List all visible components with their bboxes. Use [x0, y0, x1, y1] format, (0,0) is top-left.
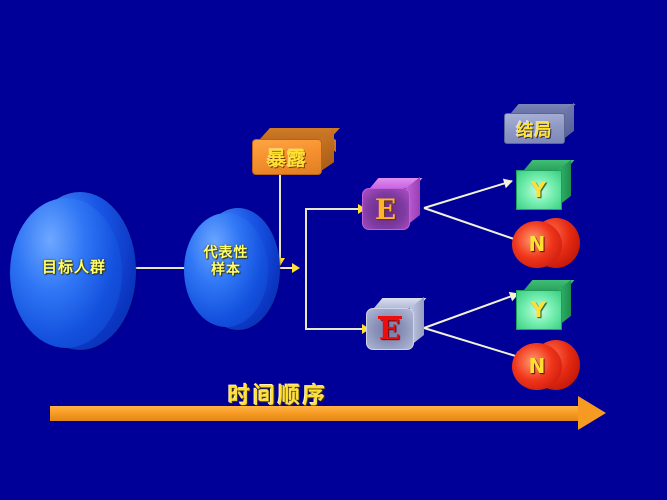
exposed-label: E [375, 193, 397, 226]
connector-unexposed-to-no [424, 327, 524, 359]
outcome-unexposed-yes[interactable]: Y [516, 280, 578, 336]
slide-canvas: 目标人群 代表性 样本 暴露 E E [0, 0, 667, 500]
outcome-yes2-label: Y [531, 298, 547, 322]
exposed-cube-face: E [362, 188, 410, 230]
outcome-yes-label: Y [531, 178, 547, 202]
node-unexposed[interactable]: E [366, 298, 428, 354]
outcome-unexposed-no[interactable]: N [512, 340, 582, 392]
outcome-header-label: 结局 [517, 116, 553, 141]
connector-split-to-exposed [305, 208, 361, 210]
node-exposure[interactable]: 暴露 [252, 128, 336, 174]
connector-exposed-to-yes [424, 180, 513, 209]
unexposed-overbar [378, 316, 402, 319]
outcome-exposed-yes[interactable]: Y [516, 160, 578, 216]
unexposed-label-wrap: E [379, 313, 401, 346]
node-representative-sample[interactable]: 代表性 样本 [184, 208, 280, 332]
connector-unexposed-to-yes [424, 293, 519, 329]
node-outcome-header[interactable]: 结局 [504, 104, 582, 146]
exposure-label: 暴露 [267, 144, 307, 171]
timeline-arrowhead [578, 396, 606, 430]
node-target-population[interactable]: 目标人群 [10, 192, 138, 352]
population-label: 目标人群 [10, 258, 138, 276]
outcome-box-face: 结局 [504, 113, 565, 144]
connector-split-trunk [305, 208, 307, 330]
outcome-exposed-no[interactable]: N [512, 218, 582, 270]
arrowhead-sample-to-split [292, 263, 300, 273]
sample-label: 代表性 样本 [184, 245, 268, 279]
exposure-box-face: 暴露 [252, 139, 322, 175]
connector-split-to-unexposed [305, 328, 365, 330]
outcome-no2-label: N [512, 354, 562, 378]
timeline-shaft [50, 406, 580, 421]
unexposed-cube-face: E [366, 308, 414, 350]
outcome-no-label: N [512, 232, 562, 256]
connector-exposed-to-no [424, 207, 525, 243]
yes2-cube-face: Y [516, 290, 562, 330]
yes-cube-face: Y [516, 170, 562, 210]
node-exposed[interactable]: E [362, 178, 424, 234]
